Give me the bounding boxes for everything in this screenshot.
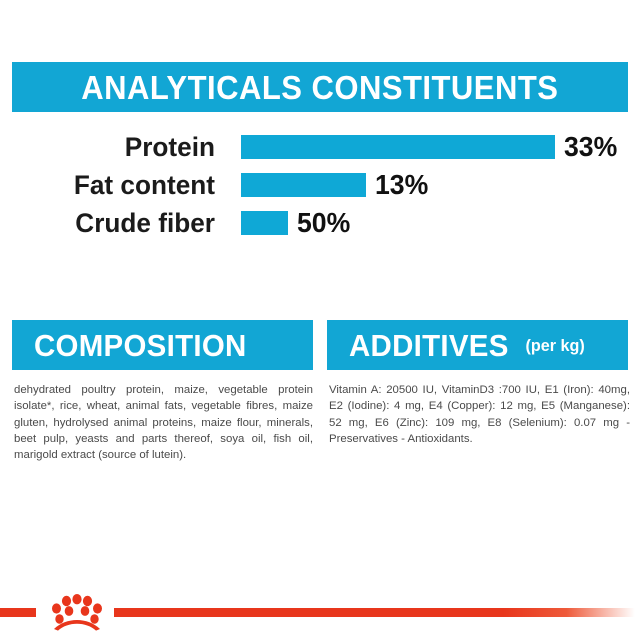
chart-bar-wrap-protein: 33% <box>215 128 640 166</box>
composition-title: COMPOSITION <box>34 330 247 361</box>
composition-body-text: dehydrated poultry protein, maize, veget… <box>12 370 315 463</box>
chart-bar-protein <box>241 135 555 159</box>
additives-panel: ADDITIVES (per kg) Vitamin A: 20500 IU, … <box>327 320 628 447</box>
footer-rule-right <box>114 608 640 617</box>
chart-bar-crude-fiber <box>241 211 288 235</box>
chart-row-fat-content: Fat content 13% <box>0 166 640 204</box>
royal-canin-crown-icon <box>44 594 110 632</box>
chart-label-crude-fiber: Crude fiber <box>6 210 215 237</box>
product-info-panel: ANALYTICALS CONSTITUENTS Protein 33% Fat… <box>0 0 640 640</box>
chart-value-fat-content: 13% <box>375 171 428 199</box>
chart-label-protein: Protein <box>6 134 215 161</box>
additives-panel-header: ADDITIVES (per kg) <box>327 320 628 370</box>
chart-label-fat-content: Fat content <box>6 172 215 199</box>
chart-bar-fat-content <box>241 173 366 197</box>
footer-rule-left <box>0 608 36 617</box>
composition-panel-header: COMPOSITION <box>12 320 313 370</box>
composition-panel: COMPOSITION dehydrated poultry protein, … <box>12 320 313 463</box>
additives-title: ADDITIVES <box>349 330 509 361</box>
chart-row-protein: Protein 33% <box>0 128 640 166</box>
chart-value-protein: 33% <box>564 133 617 161</box>
analyticals-constituents-header: ANALYTICALS CONSTITUENTS <box>12 62 628 112</box>
chart-bar-wrap-crude-fiber: 50% <box>215 204 640 242</box>
page-title: ANALYTICALS CONSTITUENTS <box>81 71 558 104</box>
chart-bar-wrap-fat-content: 13% <box>215 166 640 204</box>
chart-value-crude-fiber: 50% <box>297 209 350 237</box>
additives-subtitle: (per kg) <box>526 337 585 354</box>
analyticals-bar-chart: Protein 33% Fat content 13% Crude fiber … <box>0 126 640 246</box>
additives-body-text: Vitamin A: 20500 IU, VitaminD3 :700 IU, … <box>327 370 632 447</box>
chart-row-crude-fiber: Crude fiber 50% <box>0 204 640 242</box>
brand-footer <box>0 592 640 640</box>
